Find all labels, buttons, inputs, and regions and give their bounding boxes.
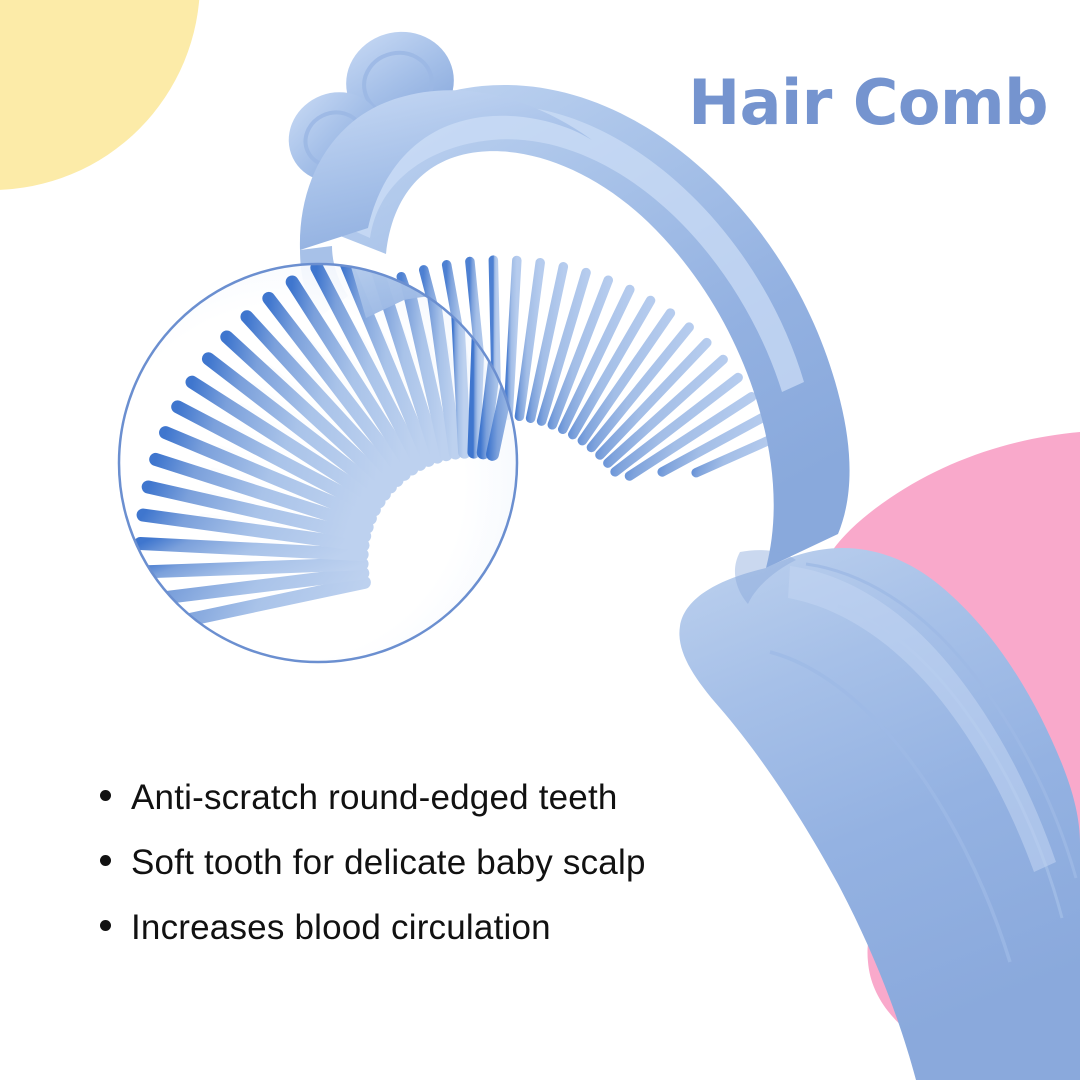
comb-tooth — [140, 564, 362, 572]
zoom-detail-circle — [119, 230, 566, 662]
feature-label: Anti-scratch round-edged teeth — [131, 778, 618, 818]
yellow-circle-decoration — [0, 0, 200, 190]
page-title: Hair Comb — [688, 72, 1048, 134]
bullet-icon — [100, 790, 111, 801]
bullet-icon — [100, 855, 111, 866]
comb-tooth — [508, 260, 517, 415]
list-item: Soft tooth for delicate baby scalp — [100, 843, 646, 908]
bullet-icon — [100, 920, 111, 931]
list-item: Anti-scratch round-edged teeth — [100, 778, 646, 843]
feature-label: Soft tooth for delicate baby scalp — [131, 843, 646, 883]
feature-list: Anti-scratch round-edged teeth Soft toot… — [100, 778, 646, 973]
list-item: Increases blood circulation — [100, 908, 646, 973]
feature-label: Increases blood circulation — [131, 908, 551, 948]
